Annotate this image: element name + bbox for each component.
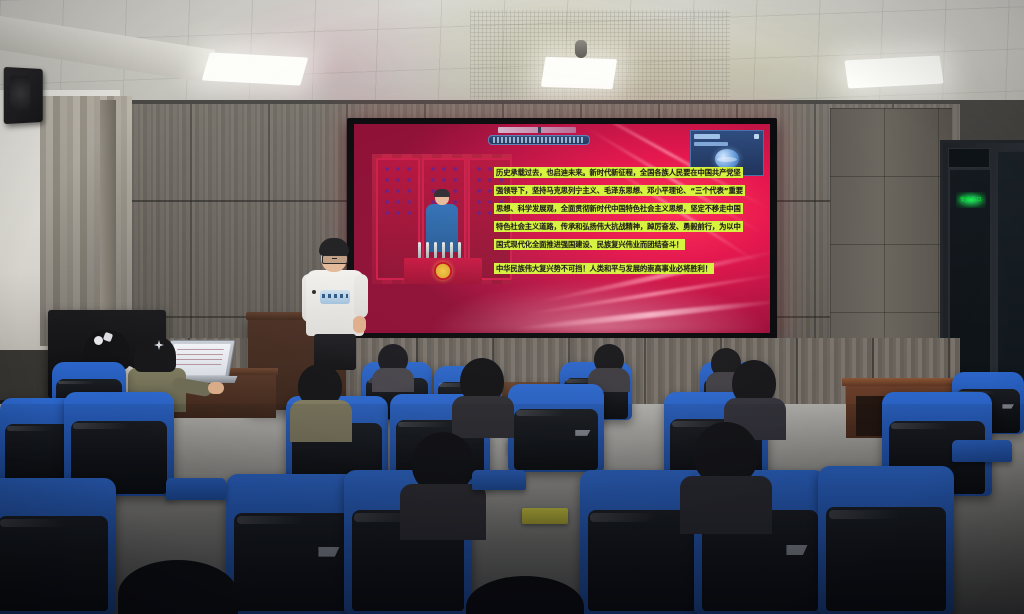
subtitle-paragraph-1: 历史承载过去，也启迪未来。新时代新征程，全国各族人民要在中国共产党坚强领导下，坚… — [494, 167, 745, 250]
tablet-arm-b2 — [522, 508, 568, 524]
ceiling-panel-light-center — [541, 57, 617, 90]
armrest-2 — [472, 470, 526, 490]
player-title-bar — [498, 127, 576, 133]
door-studs — [381, 163, 415, 221]
presenter — [306, 238, 364, 368]
person-torso — [290, 400, 352, 442]
person-torso — [680, 476, 772, 534]
person-torso — [372, 368, 414, 392]
exit-sign: 安全出口 — [956, 192, 986, 208]
pip-header-line — [694, 134, 720, 139]
ceiling-panel-light-right — [844, 55, 943, 88]
armrest-3 — [952, 440, 1012, 462]
eyeglasses-icon — [322, 255, 348, 264]
pip-subheader-line — [694, 142, 728, 146]
seat-row-c-1[interactable] — [0, 478, 116, 614]
armrest-1 — [166, 478, 226, 500]
pip-close-icon[interactable] — [754, 134, 759, 139]
audience-member-1 — [372, 344, 414, 388]
seat-row-c-2[interactable] — [226, 474, 358, 614]
player-address-bar[interactable] — [488, 135, 590, 145]
audience-member-8 — [680, 422, 772, 528]
wall-speaker — [4, 67, 43, 124]
lecture-hall-photo: 安全出口 — [0, 0, 1024, 614]
national-emblem-icon — [434, 262, 452, 280]
hair-clip-icon — [94, 336, 103, 345]
curtain-shading — [40, 96, 132, 346]
seat-row-c-6[interactable] — [818, 466, 954, 614]
screen-subtitle-block: 历史承载过去，也启迪未来。新时代新征程，全国各族人民要在中国共产党坚强领导下，坚… — [494, 162, 746, 276]
person-head — [466, 576, 584, 614]
presenter-shirt-graphic — [320, 290, 350, 304]
door-sidelight-pane — [996, 150, 1024, 404]
person-torso — [400, 484, 486, 540]
subtitle-paragraph-2: 中华民族伟大复兴势不可挡！人类和平与发展的崇高事业必将胜利！ — [494, 263, 714, 274]
ceiling-panel-light-left — [202, 52, 309, 85]
audience-member-5 — [452, 358, 514, 434]
presenter-right-hand — [353, 316, 366, 333]
speaker-hair — [434, 189, 450, 197]
broadcast-rostrum-image — [372, 154, 512, 284]
operator-2-hair — [134, 336, 176, 372]
audience-member-4 — [290, 364, 352, 438]
operator-2-hand — [208, 382, 224, 394]
seat-row-b-5[interactable] — [508, 384, 604, 472]
smoke-detector-dome-icon — [575, 40, 587, 58]
led-video-wall[interactable]: 历史承载过去，也启迪未来。新时代新征程，全国各族人民要在中国共产党坚强领导下，坚… — [354, 124, 770, 333]
door-transom — [948, 148, 990, 168]
person-head — [118, 560, 238, 614]
presenter-right-arm — [354, 274, 368, 318]
audience-member-9 — [118, 560, 238, 614]
audience-member-10 — [466, 576, 584, 614]
media-player-toolbar[interactable] — [482, 127, 590, 143]
lapel-microphone-icon — [312, 290, 316, 294]
audience-member-2 — [588, 344, 630, 388]
presenter-hair — [319, 238, 349, 256]
exit-sign-label: 安全出口 — [956, 192, 986, 208]
